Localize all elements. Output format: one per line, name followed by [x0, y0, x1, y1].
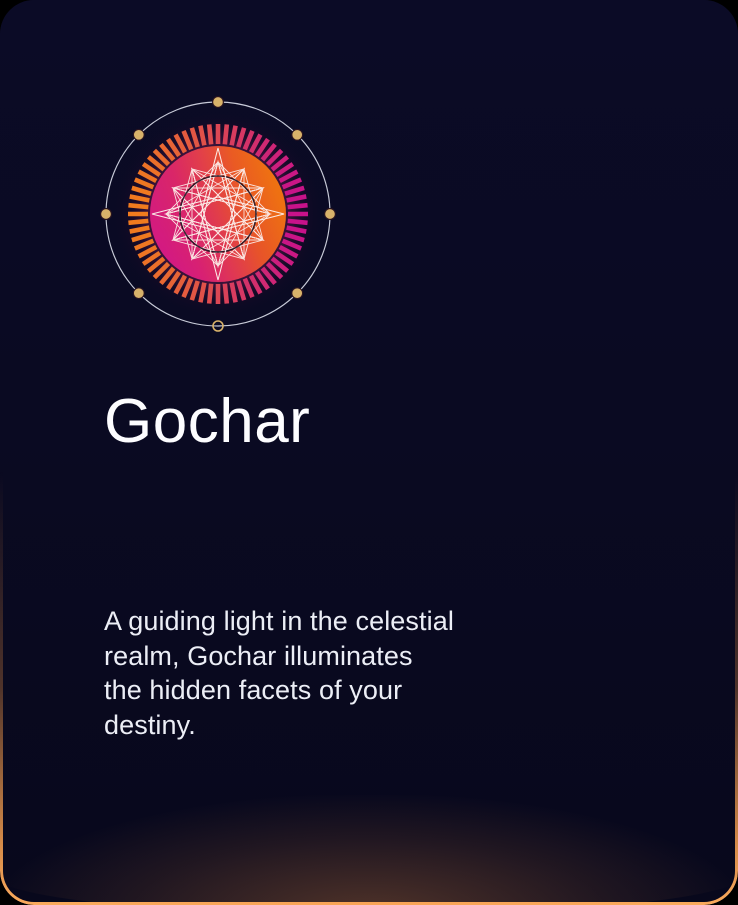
title-block: Gochar	[104, 389, 664, 456]
emblem-node	[133, 288, 144, 299]
page-title: Gochar	[104, 389, 664, 456]
emblem-node	[133, 129, 144, 140]
emblem-node	[213, 97, 224, 108]
emblem-tick	[288, 221, 308, 223]
emblem-node	[292, 129, 303, 140]
emblem-disc-overlay	[150, 146, 286, 282]
emblem-node	[325, 209, 336, 220]
emblem-tick	[288, 205, 308, 207]
emblem-tick	[128, 221, 148, 223]
emblem-tick	[209, 284, 211, 304]
emblem-tick	[225, 124, 227, 144]
gochar-emblem-icon	[84, 80, 352, 348]
emblem-tick	[128, 205, 148, 207]
emblem-tick	[209, 124, 211, 144]
card-accent-glow	[0, 795, 738, 905]
emblem-node	[292, 288, 303, 299]
tagline-block: A guiding light in the celestial realm, …	[104, 604, 454, 742]
app-splash-card: Gochar A guiding light in the celestial …	[0, 0, 738, 905]
emblem-tick	[225, 284, 227, 304]
emblem-node	[101, 209, 112, 220]
tagline-text: A guiding light in the celestial realm, …	[104, 604, 454, 742]
gochar-emblem-svg	[84, 80, 352, 348]
